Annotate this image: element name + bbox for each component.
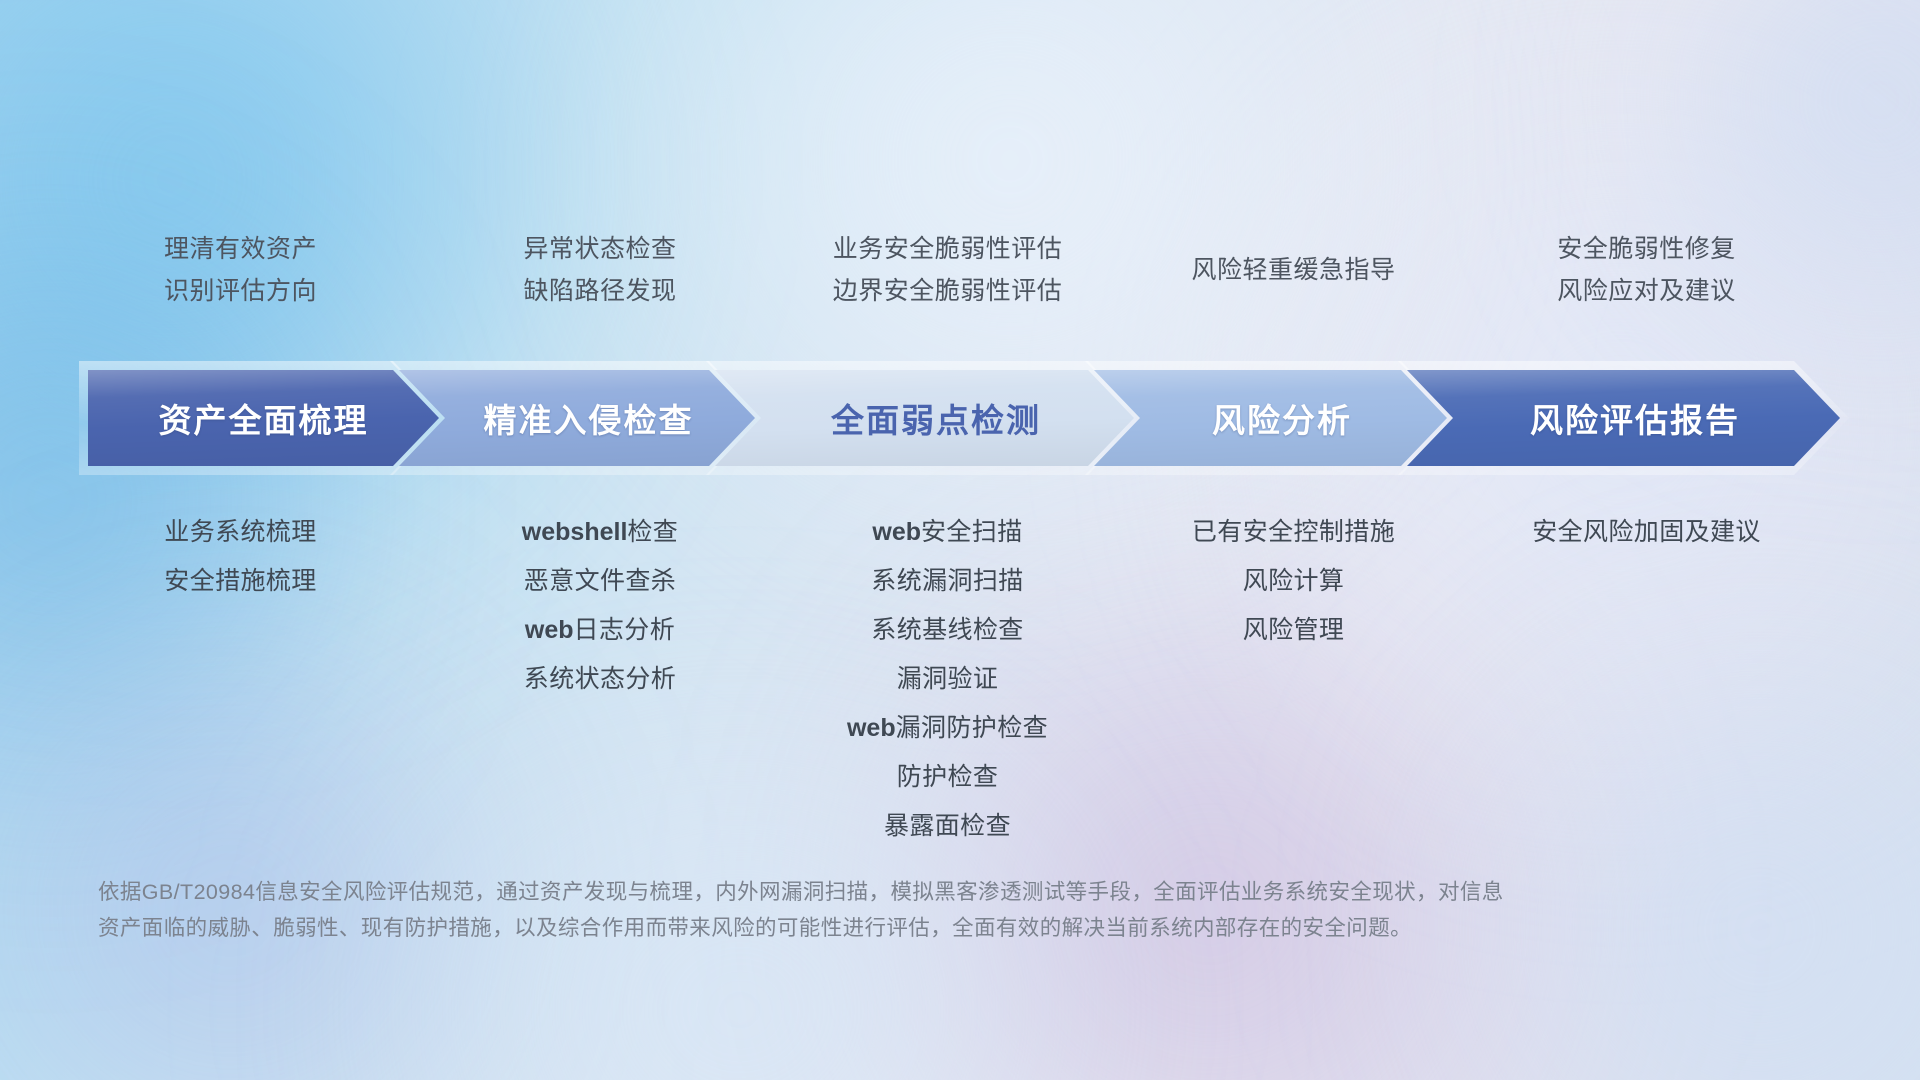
output-item: 风险计算	[994, 557, 1594, 606]
output-item: 暴露面检查	[648, 802, 1248, 851]
stage-title-risk-report: 风险评估报告	[1530, 394, 1740, 442]
footer-description: 依据GB/T20984信息安全风险评估规范，通过资产发现与梳理，内外网漏洞扫描，…	[98, 874, 1738, 946]
output-item: web漏洞防护检查	[648, 704, 1248, 753]
slide-canvas: 理清有效资产识别评估方向异常状态检查缺陷路径发现业务安全脆弱性评估边界安全脆弱性…	[0, 0, 1920, 1080]
process-stage-weakness-detection[interactable]: 全面弱点检测	[715, 370, 1134, 466]
output-item: 安全风险加固及建议	[1347, 508, 1920, 557]
output-item: 风险管理	[994, 606, 1594, 655]
stage-inputs-risk-report: 安全脆弱性修复风险应对及建议	[1347, 228, 1920, 312]
footer-line-1: 依据GB/T20984信息安全风险评估规范，通过资产发现与梳理，内外网漏洞扫描，…	[98, 874, 1738, 910]
process-stage-intrusion-check[interactable]: 精准入侵检查	[399, 370, 755, 466]
stage-title-asset-inventory: 资产全面梳理	[159, 394, 369, 442]
process-stage-risk-analysis[interactable]: 风险分析	[1094, 370, 1447, 466]
output-item: 漏洞验证	[648, 655, 1248, 704]
stage-title-risk-analysis: 风险分析	[1212, 394, 1352, 442]
process-chevron-band: 资产全面梳理精准入侵检查全面弱点检测风险分析风险评估报告	[0, 370, 1920, 466]
input-item: 安全脆弱性修复	[1347, 228, 1920, 270]
stage-title-weakness-detection: 全面弱点检测	[831, 394, 1041, 442]
stage-inputs-row: 理清有效资产识别评估方向异常状态检查缺陷路径发现业务安全脆弱性评估边界安全脆弱性…	[0, 228, 1920, 338]
process-stage-risk-report[interactable]: 风险评估报告	[1407, 370, 1840, 466]
process-stage-asset-inventory[interactable]: 资产全面梳理	[88, 370, 439, 466]
stage-title-intrusion-check: 精准入侵检查	[484, 394, 694, 442]
footer-line-2: 资产面临的威胁、脆弱性、现有防护措施，以及综合作用而带来风险的可能性进行评估，全…	[98, 910, 1738, 946]
stage-outputs-risk-report: 安全风险加固及建议	[1347, 508, 1920, 557]
output-item: 防护检查	[648, 753, 1248, 802]
input-item: 风险应对及建议	[1347, 270, 1920, 312]
